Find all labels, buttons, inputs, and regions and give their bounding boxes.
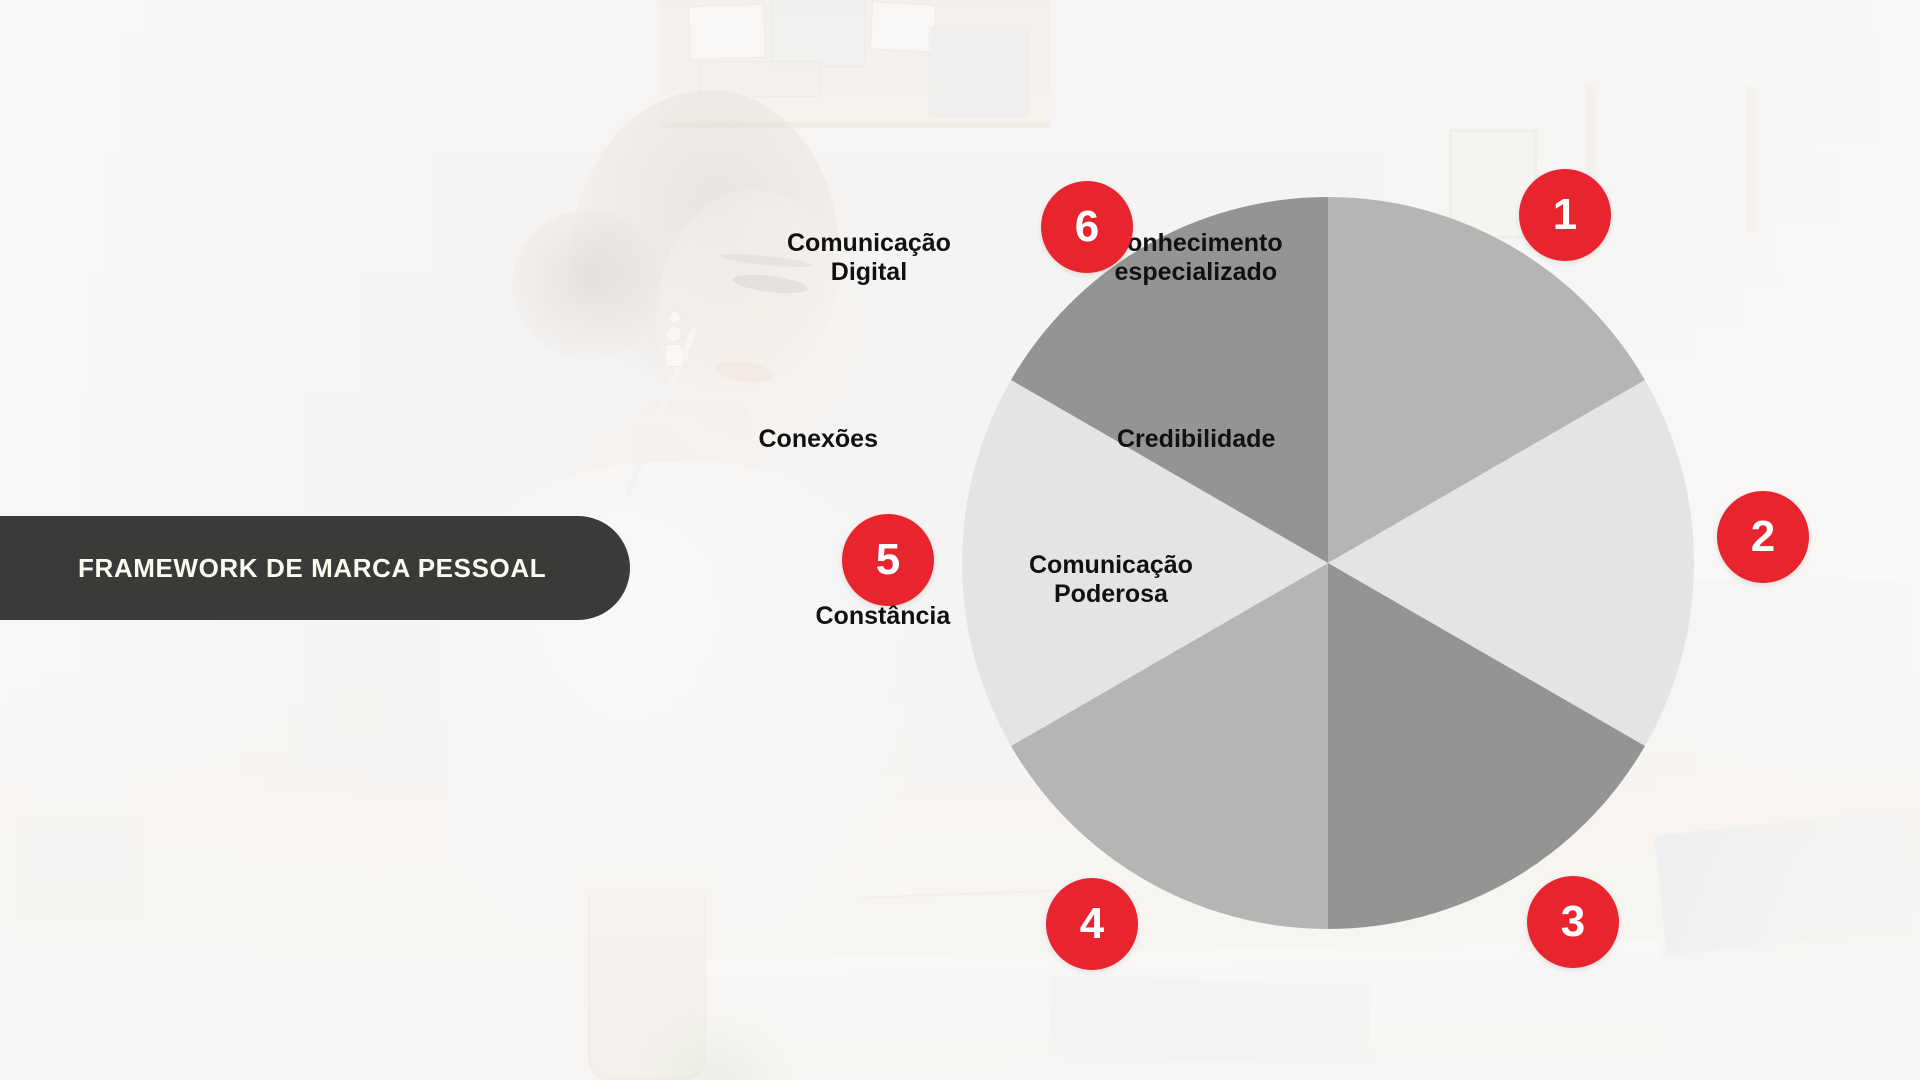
title-banner: FRAMEWORK DE MARCA PESSOAL — [0, 516, 630, 620]
step-badge-3[interactable]: 3 — [1527, 876, 1619, 968]
step-badge-1[interactable]: 1 — [1519, 169, 1611, 261]
page-title: FRAMEWORK DE MARCA PESSOAL — [0, 553, 546, 584]
slide-canvas: Conhecimentoespecializado1Credibilidade2… — [0, 0, 1920, 1080]
step-badge-2[interactable]: 2 — [1717, 491, 1809, 583]
step-badge-6[interactable]: 6 — [1041, 181, 1133, 273]
step-badge-4[interactable]: 4 — [1046, 878, 1138, 970]
pie-chart — [962, 197, 1694, 929]
pie-chart-svg — [962, 197, 1694, 929]
step-badge-5[interactable]: 5 — [842, 514, 934, 606]
